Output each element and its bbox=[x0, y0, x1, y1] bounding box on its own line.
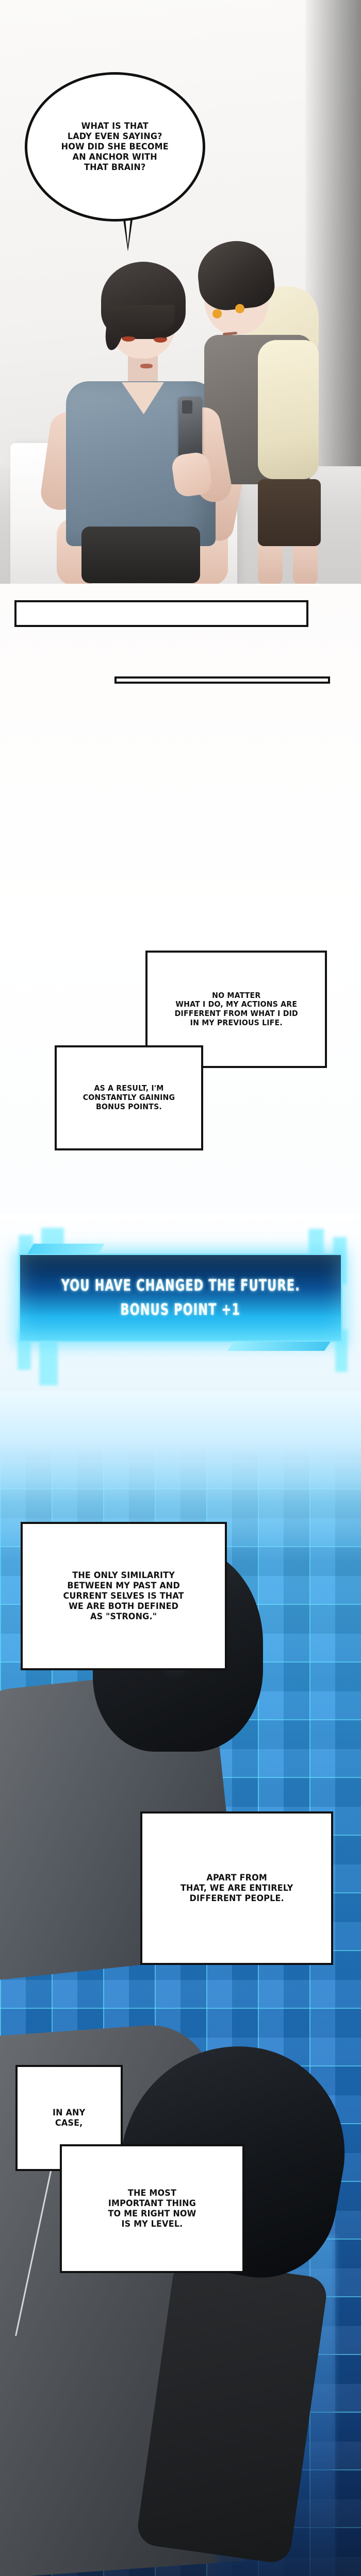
caption-no-matter-text: NO MATTER WHAT I DO, MY ACTIONS ARE DIFF… bbox=[174, 991, 298, 1028]
caption-apart-from-that-text: APART FROM THAT, WE ARE ENTIRELY DIFFERE… bbox=[180, 1873, 293, 1904]
caption-only-similarity-text: THE ONLY SIMILARITY BETWEEN MY PAST AND … bbox=[63, 1570, 184, 1622]
caption-only-similarity: THE ONLY SIMILARITY BETWEEN MY PAST AND … bbox=[21, 1522, 227, 1670]
speech-bubble-text: WHAT IS THAT LADY EVEN SAYING? HOW DID S… bbox=[61, 121, 169, 173]
leaning-boy-eye-left bbox=[212, 309, 222, 318]
caption-as-a-result-text: AS A RESULT, I'M CONSTANTLY GAINING BONU… bbox=[83, 1084, 175, 1111]
panel-monologue-white: NO MATTER WHAT I DO, MY ACTIONS ARE DIFF… bbox=[0, 584, 361, 1213]
leaning-boy-pants bbox=[258, 479, 321, 546]
empty-caption-box-thin bbox=[114, 676, 330, 684]
caption-most-important-thing-text: THE MOST IMPORTANT THING TO ME RIGHT NOW… bbox=[108, 2188, 196, 2229]
leaning-boy-eye-right bbox=[235, 304, 244, 313]
system-message-line-2: BONUS POINT +1 bbox=[121, 1301, 241, 1319]
seated-boy-mouth bbox=[140, 364, 153, 368]
panel-system-banner: YOU HAVE CHANGED THE FUTURE. BONUS POINT… bbox=[0, 1213, 361, 1391]
leaning-boy-hoodie-sleeve bbox=[258, 340, 319, 479]
seated-boy-eye-left bbox=[122, 335, 135, 342]
seated-boy-shorts bbox=[81, 527, 200, 583]
speech-bubble-question: WHAT IS THAT LADY EVEN SAYING? HOW DID S… bbox=[25, 72, 205, 222]
caption-in-any-case-text: IN ANY CASE, bbox=[53, 2108, 85, 2128]
panel-two-boys: WHAT IS THAT LADY EVEN SAYING? HOW DID S… bbox=[0, 0, 361, 584]
caption-apart-from-that: APART FROM THAT, WE ARE ENTIRELY DIFFERE… bbox=[140, 1811, 333, 1965]
empty-caption-box-wide bbox=[14, 600, 308, 627]
panel-digital-grid: THE ONLY SIMILARITY BETWEEN MY PAST AND … bbox=[0, 1391, 361, 2576]
seated-boy-bangs bbox=[110, 305, 174, 335]
caption-as-a-result: AS A RESULT, I'M CONSTANTLY GAINING BONU… bbox=[55, 1045, 203, 1150]
system-message-panel: YOU HAVE CHANGED THE FUTURE. BONUS POINT… bbox=[19, 1253, 342, 1342]
system-message-line-1: YOU HAVE CHANGED THE FUTURE. bbox=[61, 1277, 300, 1295]
caption-most-important-thing: THE MOST IMPORTANT THING TO ME RIGHT NOW… bbox=[60, 2144, 244, 2273]
seated-boy-eye-right bbox=[154, 336, 167, 343]
webtoon-page: WHAT IS THAT LADY EVEN SAYING? HOW DID S… bbox=[0, 0, 361, 2576]
hud-glow-block bbox=[39, 1341, 58, 1385]
seated-boy-hand bbox=[171, 451, 214, 498]
